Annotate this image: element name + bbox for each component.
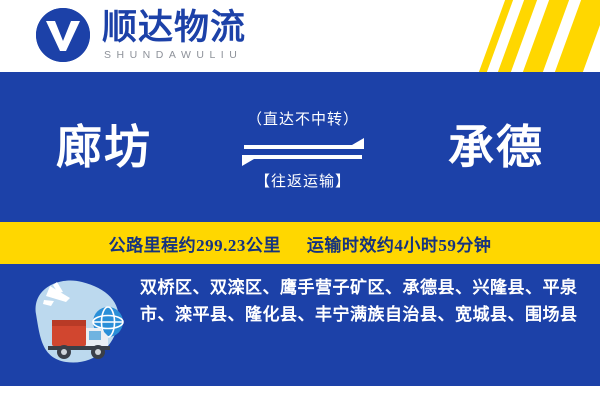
destination-city: 承德 (448, 120, 544, 176)
brand-name-en: SHUNDAWULIU (102, 48, 246, 62)
route-note-bottom: 【往返运输】 (228, 172, 378, 192)
logo-w-mark-icon (36, 8, 90, 62)
brand-text: 顺达物流 SHUNDAWULIU (102, 9, 246, 62)
truck-globe-plane-icon (22, 274, 130, 370)
route-middle: （直达不中转） 【往返运输】 (228, 110, 378, 192)
route-note-top: （直达不中转） (228, 110, 378, 130)
duration-text: 运输时效约4小时59分钟 (307, 231, 492, 256)
footer-strip (0, 386, 600, 400)
info-band: 公路里程约299.23公里 运输时效约4小时59分钟 (0, 222, 600, 264)
route-section: 廊坊 （直达不中转） 【往返运输】 承德 (0, 72, 600, 222)
brand-logo: 顺达物流 SHUNDAWULIU (36, 8, 246, 62)
double-arrow-icon (228, 134, 378, 170)
decorative-stripes (370, 0, 600, 72)
brand-name-cn: 顺达物流 (102, 9, 246, 47)
logistics-route-poster: 顺达物流 SHUNDAWULIU 廊坊 （直达不中转） 【往返运输】 (0, 0, 600, 400)
coverage-areas-text: 双桥区、双滦区、鹰手营子矿区、承德县、兴隆县、平泉市、滦平县、隆化县、丰宁满族自… (140, 274, 580, 328)
distance-text: 公路里程约299.23公里 (109, 231, 281, 256)
poster-header: 顺达物流 SHUNDAWULIU (0, 0, 600, 72)
origin-city: 廊坊 (56, 120, 152, 176)
coverage-section: 双桥区、双滦区、鹰手营子矿区、承德县、兴隆县、平泉市、滦平县、隆化县、丰宁满族自… (0, 264, 600, 400)
